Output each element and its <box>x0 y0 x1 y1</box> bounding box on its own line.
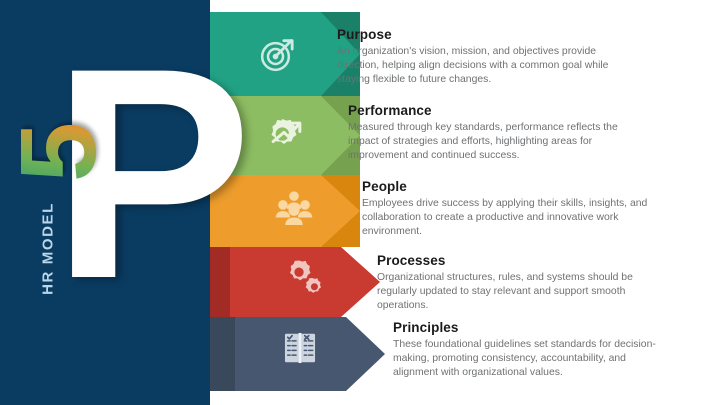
icon-principles <box>278 326 322 370</box>
gears-icon <box>284 258 324 298</box>
step-body-purpose: An organization's vision, mission, and o… <box>337 45 637 88</box>
infographic-canvas: P 5 HR MODEL <box>0 0 720 405</box>
icon-people <box>272 186 316 230</box>
icon-processes <box>282 256 326 300</box>
people-group-icon <box>275 189 313 227</box>
step-title-performance: Performance <box>348 103 638 118</box>
target-arrow-icon <box>258 34 298 74</box>
logo-number-five-wrapper: 5 <box>8 78 112 182</box>
step-title-principles: Principles <box>393 320 671 335</box>
text-block-principles: Principles These foundational guidelines… <box>393 320 671 381</box>
step-title-people: People <box>362 179 650 194</box>
icon-performance <box>262 112 306 156</box>
logo-number-five: 5 <box>8 78 108 182</box>
step-body-processes: Organizational structures, rules, and sy… <box>377 271 659 314</box>
step-body-performance: Measured through key standards, performa… <box>348 121 638 164</box>
step-title-purpose: Purpose <box>337 27 637 42</box>
text-block-purpose: Purpose An organization's vision, missio… <box>337 27 637 88</box>
step-title-processes: Processes <box>377 253 659 268</box>
gear-growth-arrow-icon <box>264 114 304 154</box>
brand-label: HR MODEL <box>40 179 57 319</box>
icon-purpose <box>256 32 300 76</box>
step-body-principles: These foundational guidelines set standa… <box>393 338 671 381</box>
text-block-performance: Performance Measured through key standar… <box>348 103 638 164</box>
text-block-processes: Processes Organizational structures, rul… <box>377 253 659 314</box>
checklist-book-icon <box>281 329 319 367</box>
text-block-people: People Employees drive success by applyi… <box>362 179 650 240</box>
step-body-people: Employees drive success by applying thei… <box>362 197 650 240</box>
